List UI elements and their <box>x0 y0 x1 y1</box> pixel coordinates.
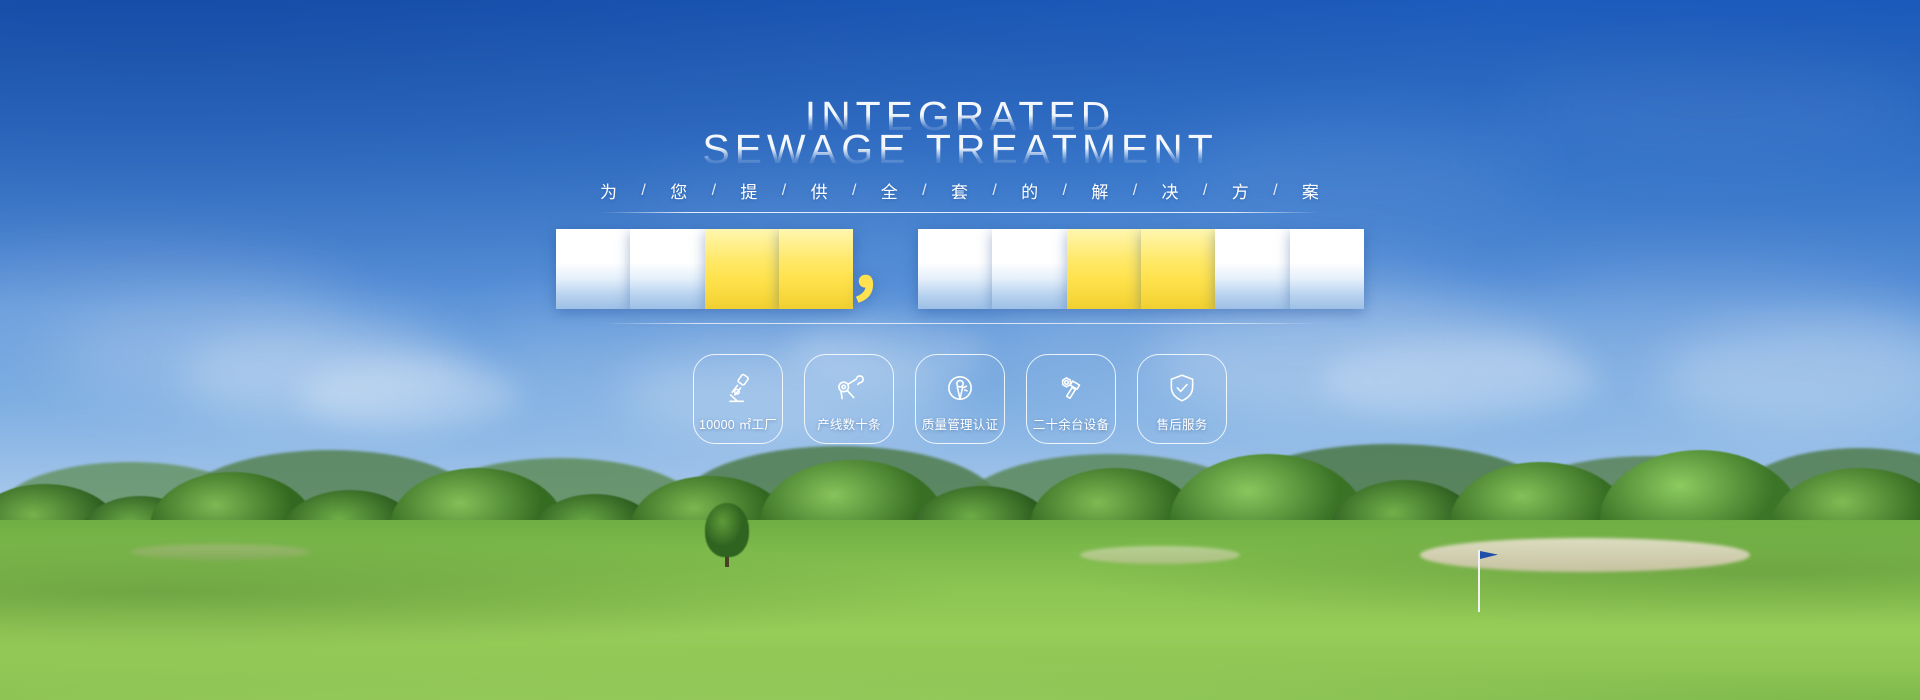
hero-banner: INTEGRATED SEWAGE TREATMENT 为 / 您 / 提 / … <box>0 0 1920 700</box>
subtitle-char-3: 供 <box>811 178 829 203</box>
subtitle-char-1: 您 <box>670 178 688 203</box>
landscape-scene <box>0 410 1920 700</box>
headline-char-8: 量 <box>1141 229 1215 309</box>
headline-char-6: 水 <box>992 229 1066 309</box>
headline-char-3: 大 <box>779 229 853 309</box>
headline: 口 径 增 大 ， 出 水 流 量 更 大 <box>556 229 1364 309</box>
subtitle-separator-7: / <box>1133 182 1138 200</box>
subtitle-separator-1: / <box>712 182 717 200</box>
headline-char-10: 大 <box>1290 229 1364 309</box>
subtitle-char-8: 决 <box>1162 178 1180 203</box>
subtitle-char-5: 套 <box>951 178 969 203</box>
subtitle-row: 为 / 您 / 提 / 供 / 全 / 套 / 的 / 解 / 决 / 方 / … <box>600 178 1320 203</box>
subtitle-char-0: 为 <box>600 178 618 203</box>
headline-char-2: 增 <box>705 229 779 309</box>
subtitle-separator-8: / <box>1203 182 1208 200</box>
subtitle-char-2: 提 <box>740 178 758 203</box>
subtitle-separator-5: / <box>992 182 997 200</box>
english-heading: INTEGRATED SEWAGE TREATMENT <box>550 96 1370 170</box>
subtitle-separator-4: / <box>922 182 927 200</box>
subtitle-char-6: 的 <box>1021 178 1039 203</box>
shield-check-icon <box>1165 371 1199 405</box>
headline-char-7: 流 <box>1067 229 1141 309</box>
fairway-path <box>130 544 310 560</box>
english-heading-line-2: SEWAGE TREATMENT <box>550 129 1370 170</box>
bolt-nut-icon <box>1054 371 1088 405</box>
subtitle-separator-3: / <box>852 182 857 200</box>
subtitle-char-10: 案 <box>1302 178 1320 203</box>
subtitle-char-4: 全 <box>881 178 899 203</box>
certificate-medal-icon <box>943 371 977 405</box>
divider-top <box>601 212 1319 213</box>
flag-pole <box>1478 550 1480 612</box>
headline-char-5: 出 <box>918 229 992 309</box>
subtitle-separator-0: / <box>641 182 646 200</box>
headline-char-9: 更 <box>1215 229 1289 309</box>
headline-char-1: 径 <box>630 229 704 309</box>
divider-bottom <box>601 323 1319 324</box>
subtitle-char-9: 方 <box>1232 178 1250 203</box>
subtitle-separator-2: / <box>782 182 787 200</box>
headline-char-0: 口 <box>556 229 630 309</box>
microscope-icon <box>721 371 755 405</box>
production-line-icon <box>832 371 866 405</box>
subtitle-char-7: 解 <box>1091 178 1109 203</box>
sand-bunker-center <box>1080 546 1240 564</box>
headline-char-4: ， <box>847 229 921 309</box>
subtitle-separator-6: / <box>1063 182 1068 200</box>
subtitle-separator-9: / <box>1273 182 1278 200</box>
sand-bunker-right <box>1420 538 1750 572</box>
lone-tree-crown <box>705 503 749 557</box>
